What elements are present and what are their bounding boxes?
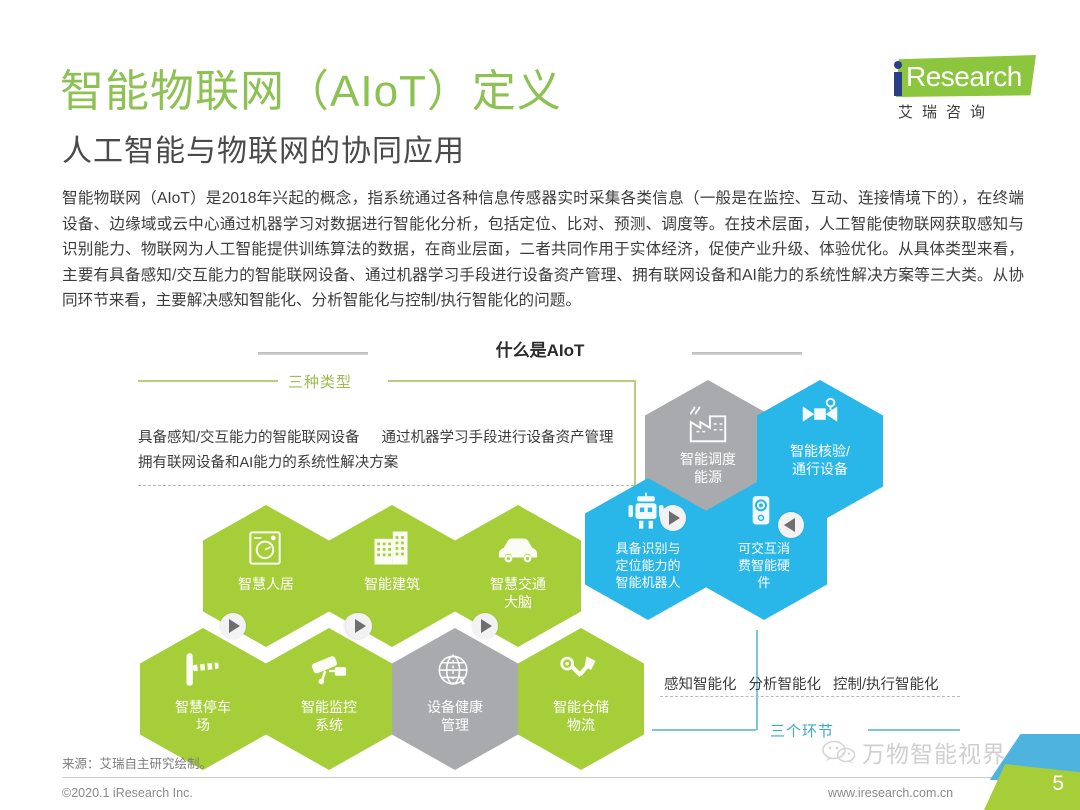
connector-arrow-right-3 (472, 613, 498, 639)
types-label: 三种类型 (288, 371, 352, 392)
link-item-2: 控制/执行智能化 (833, 677, 939, 693)
page-number: 5 (1052, 772, 1064, 796)
hex-label-verification-gate: 智能核验/ 通行设备 (768, 442, 872, 478)
copyright-text: ©2020.1 iResearch Inc. (62, 786, 193, 800)
page-subtitle: 人工智能与物联网的协同应用 (62, 126, 465, 170)
hex-smart-warehouse[interactable]: 智能仓储 物流 (518, 628, 644, 770)
car-icon (495, 527, 541, 571)
connector-arrow-right-4 (660, 505, 686, 531)
iresearch-logo: Research 艾瑞咨询 (878, 55, 1038, 125)
links-dashed-divider (660, 696, 960, 697)
links-bracket-line-right (868, 729, 960, 731)
logo-i-stem (894, 72, 902, 96)
hex-label-smart-warehouse: 智能仓储 物流 (529, 698, 633, 734)
washing-machine-icon (243, 527, 289, 571)
figure-rule-right (692, 352, 802, 355)
connector-arrow-left-2 (778, 512, 804, 538)
links-bracket-line-left (652, 729, 756, 731)
types-bracket-line-left (138, 380, 278, 382)
wechat-bubble-icon (822, 740, 856, 764)
turnstile-icon (797, 394, 843, 438)
hex-smart-parking[interactable]: 智慧停车 场 (140, 628, 266, 770)
types-dashed-divider (138, 485, 634, 486)
body-paragraph: 智能物联网（AIoT）是2018年兴起的概念，指系统通过各种信息传感器实时采集各… (62, 186, 1024, 314)
hex-label-smart-building: 智能建筑 (340, 575, 444, 593)
logo-wordmark: Research (906, 61, 1022, 93)
logo-wordmark-cn: 艾瑞咨询 (898, 101, 994, 122)
footer-divider (62, 777, 1018, 778)
figure-title: 什么是AIoT (0, 336, 1080, 361)
hex-label-consumer-hardware: 可交互消 费智能硬 件 (712, 540, 816, 591)
slide-page: 智能物联网（AIoT）定义 人工智能与物联网的协同应用 Research 艾瑞咨… (0, 0, 1080, 810)
hex-surveillance[interactable]: 智能监控 系统 (266, 628, 392, 770)
logo-i-dot (894, 61, 902, 69)
hex-equip-health[interactable]: 设备健康 管理 (392, 628, 518, 770)
links-description: 感知智能化分析智能化控制/执行智能化 (664, 673, 984, 694)
hex-label-smart-home: 智慧人居 (214, 575, 318, 593)
figure-rule-left (258, 352, 368, 355)
types-desc-2: 通过机器学习手段进行设备资产管理 (382, 430, 614, 446)
link-item-1: 分析智能化 (749, 677, 822, 693)
figure-aiot-diagram: 什么是AIoT 三种类型 具备感知/交互能力的智能联网设备通过机器学习手段进行设… (0, 330, 1080, 760)
corner-decoration (984, 734, 1080, 810)
website-text: www.iresearch.com.cn (828, 786, 953, 800)
types-desc-3: 拥有联网设备和AI能力的系统性解决方案 (138, 451, 638, 476)
connector-arrow-right-1 (220, 613, 246, 639)
hex-label-energy-dispatch: 智能调度 能源 (656, 450, 760, 486)
types-description: 具备感知/交互能力的智能联网设备通过机器学习手段进行设备资产管理 拥有联网设备和… (138, 426, 638, 476)
hex-label-traffic-brain: 智慧交通 大脑 (466, 575, 570, 611)
parking-barrier-icon (180, 650, 226, 694)
cctv-camera-icon (306, 650, 352, 694)
hex-label-smart-robot: 具备识别与 定位能力的 智能机器人 (596, 540, 700, 591)
types-bracket-line-right (388, 380, 636, 382)
types-desc-1: 具备感知/交互能力的智能联网设备 (138, 430, 360, 446)
globe-target-icon (432, 650, 478, 694)
link-item-0: 感知智能化 (664, 677, 737, 693)
building-icon (369, 527, 415, 571)
hex-label-surveillance: 智能监控 系统 (277, 698, 381, 734)
source-note: 来源：艾瑞自主研究绘制。 (62, 753, 212, 772)
hex-label-equip-health: 设备健康 管理 (403, 698, 507, 734)
connector-arrow-right-2 (346, 613, 372, 639)
factory-icon (685, 402, 731, 446)
page-title: 智能物联网（AIoT）定义 (60, 55, 562, 119)
robot-arm-icon (558, 650, 604, 694)
hex-label-smart-parking: 智慧停车 场 (151, 698, 255, 734)
wechat-watermark: 万物智能视界 (822, 735, 1006, 769)
